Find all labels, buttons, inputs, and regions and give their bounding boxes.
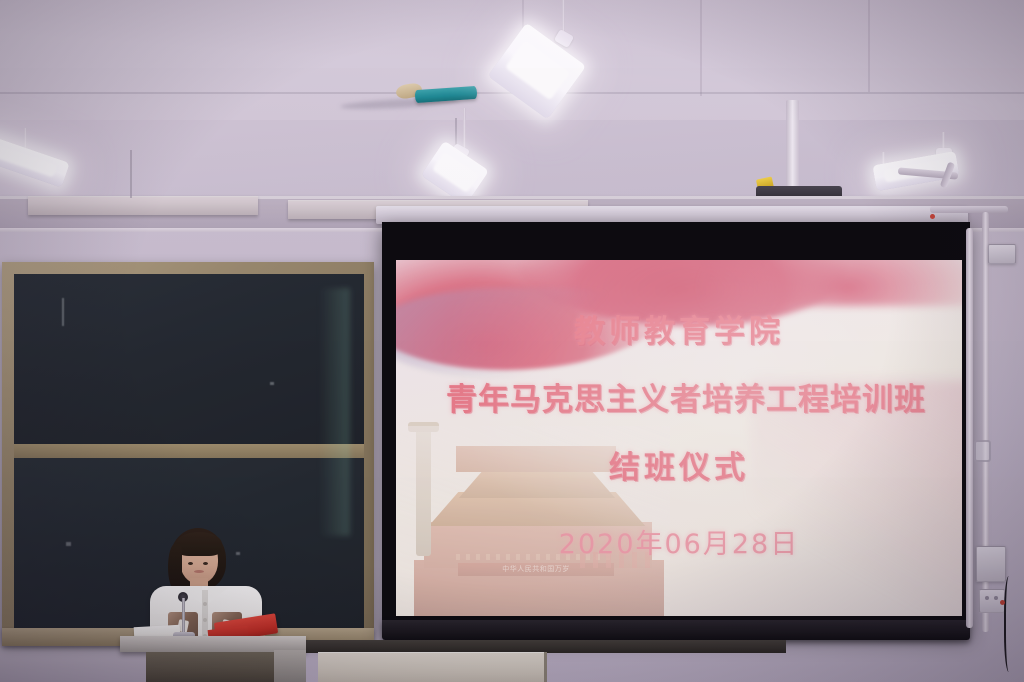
presenter-eye-left [188, 562, 193, 565]
classroom-scene: 中华人民共和国万岁 教师教育学院 青年马克思主义者培养工程培训班 结班仪式 20… [0, 0, 1024, 682]
floor-panel [318, 652, 546, 682]
projection-screen-bottom-bar [382, 620, 970, 640]
indicator-light-b [1000, 600, 1005, 605]
blackboard-divider [14, 444, 364, 458]
indicator-light-a [930, 214, 935, 219]
slide-institution-line: 教师教育学院 [396, 306, 962, 351]
presenter-eye-right [203, 562, 208, 565]
ceiling-rail-left [28, 196, 258, 215]
lectern-side-panel [274, 650, 306, 682]
wall-hook-bracket [974, 440, 991, 462]
presenter-hair-front [176, 532, 222, 556]
slide-date-line: 2020年06月28日 [396, 522, 962, 561]
projector-mount-pole [786, 100, 799, 192]
lectern-body [146, 652, 274, 682]
blackboard-glare [319, 288, 351, 536]
blackboard-chalk-mark-a [62, 298, 64, 326]
slide-event-line: 结班仪式 [396, 442, 962, 487]
conduit-horizontal-top [930, 206, 1008, 213]
blackboard-chalk-mark-b [270, 382, 274, 385]
blackboard-chalk-mark-c [66, 542, 71, 546]
presenter-shirt-button-a [203, 602, 207, 606]
conduit-vertical-inner [966, 228, 973, 628]
lamp-tube-center [505, 40, 571, 101]
floor-panel-edge [544, 652, 547, 682]
presenter-shirt-button-b [203, 618, 207, 622]
lectern [120, 636, 306, 682]
ceiling-seam-vertical-b [700, 0, 702, 96]
hanging-cable-right [1004, 576, 1016, 672]
presenter-mouth [194, 570, 204, 573]
junction-box-top [988, 244, 1016, 264]
lamp-rod-center-left [463, 108, 466, 150]
outlet-socket-b [994, 596, 998, 600]
outlet-socket-a [985, 596, 989, 600]
slide-text-block: 教师教育学院 青年马克思主义者培养工程培训班 结班仪式 2020年06月28日 [396, 260, 962, 616]
blackboard-panel-top [14, 274, 364, 444]
slide-program-line: 青年马克思主义者培养工程培训班 [404, 374, 962, 419]
lamp-tube-center-left [432, 152, 478, 193]
presenter-hair-side [168, 544, 182, 590]
projection-screen-image: 中华人民共和国万岁 教师教育学院 青年马克思主义者培养工程培训班 结班仪式 20… [396, 260, 962, 616]
ceiling-drop-wire [130, 150, 132, 198]
ceiling-seam-vertical-c [868, 0, 870, 92]
junction-box-lower [976, 546, 1006, 582]
